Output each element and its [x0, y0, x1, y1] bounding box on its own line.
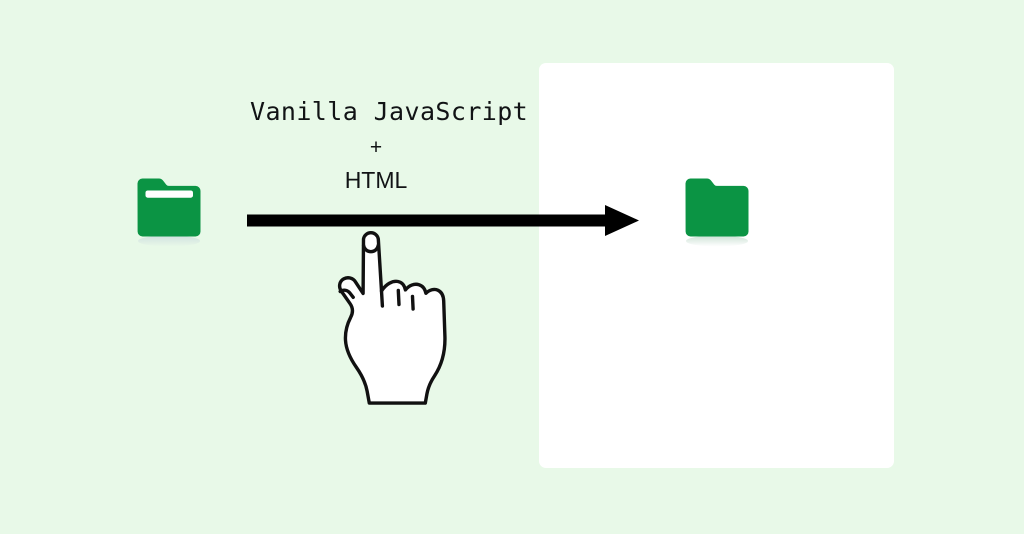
preview-card: Drag and drop files here	[539, 63, 894, 468]
illustration-canvas: Vanilla JavaScript + HTML Drag and drop …	[0, 0, 1024, 534]
headline-plus-sign: +	[250, 133, 502, 163]
destination-folder-icon	[681, 174, 753, 246]
pointing-hand-icon	[322, 226, 450, 418]
source-folder-icon	[133, 174, 205, 246]
headline-line-3: HTML	[250, 166, 502, 196]
headline-line-1: Vanilla JavaScript	[250, 96, 502, 127]
headline-block: Vanilla JavaScript + HTML	[250, 96, 502, 196]
